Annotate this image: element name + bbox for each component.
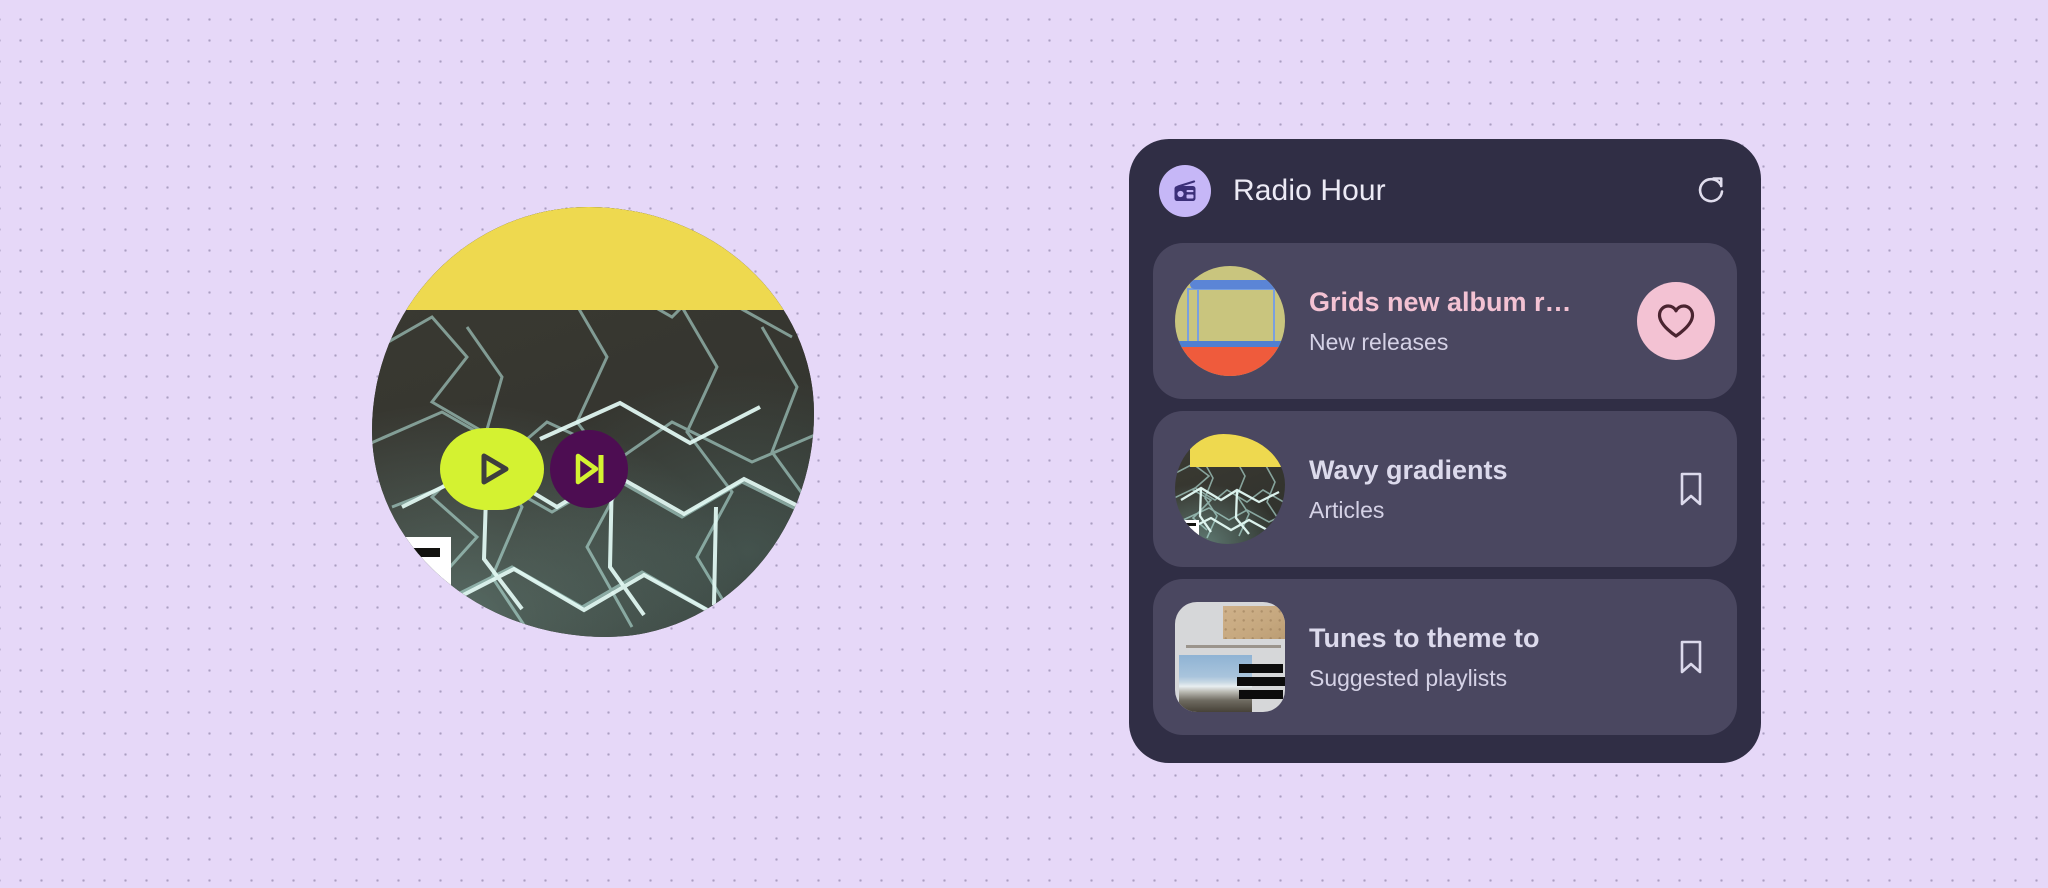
list-item-text: Wavy gradients Articles bbox=[1309, 454, 1651, 524]
like-button[interactable] bbox=[1637, 282, 1715, 360]
list-item-subtitle: New releases bbox=[1309, 329, 1621, 357]
list-item-subtitle: Articles bbox=[1309, 497, 1651, 525]
artwork-corner-notch bbox=[375, 537, 451, 615]
screen-root: Radio Hour bbox=[0, 0, 2048, 888]
wavy-gradient-thumbnail bbox=[1175, 434, 1285, 544]
list-item-title: Tunes to theme to bbox=[1309, 622, 1651, 656]
list-item-title: Grids new album r… bbox=[1309, 286, 1621, 320]
list-item-text: Tunes to theme to Suggested playlists bbox=[1309, 622, 1651, 692]
play-icon bbox=[470, 447, 514, 491]
page-title: Radio Hour bbox=[1233, 174, 1386, 208]
bookmark-icon bbox=[1675, 638, 1707, 676]
list-item-subtitle: Suggested playlists bbox=[1309, 665, 1651, 693]
bookmark-button[interactable] bbox=[1667, 633, 1715, 681]
list-item-title: Wavy gradients bbox=[1309, 454, 1651, 488]
panel-header: Radio Hour bbox=[1153, 139, 1737, 243]
list-item-text: Grids new album r… New releases bbox=[1309, 286, 1621, 356]
list-item[interactable]: Wavy gradients Articles bbox=[1153, 411, 1737, 567]
artwork-blob-shape bbox=[372, 207, 814, 637]
radio-avatar bbox=[1159, 165, 1211, 217]
now-playing-artwork bbox=[372, 207, 814, 637]
skip-next-button[interactable] bbox=[550, 430, 628, 508]
radio-hour-panel: Radio Hour bbox=[1129, 139, 1761, 763]
radio-icon bbox=[1170, 176, 1200, 206]
grid-poster-thumbnail bbox=[1175, 266, 1285, 376]
artwork-accent-band bbox=[372, 207, 814, 310]
bookmark-button[interactable] bbox=[1667, 465, 1715, 513]
article-card-thumbnail bbox=[1175, 602, 1285, 712]
bookmark-icon bbox=[1675, 470, 1707, 508]
play-button[interactable] bbox=[440, 428, 544, 510]
refresh-button[interactable] bbox=[1691, 171, 1731, 211]
heart-icon bbox=[1656, 303, 1696, 340]
list-item[interactable]: Tunes to theme to Suggested playlists bbox=[1153, 579, 1737, 735]
list-item[interactable]: Grids new album r… New releases bbox=[1153, 243, 1737, 399]
refresh-icon bbox=[1694, 174, 1728, 208]
skip-next-icon bbox=[569, 449, 609, 489]
